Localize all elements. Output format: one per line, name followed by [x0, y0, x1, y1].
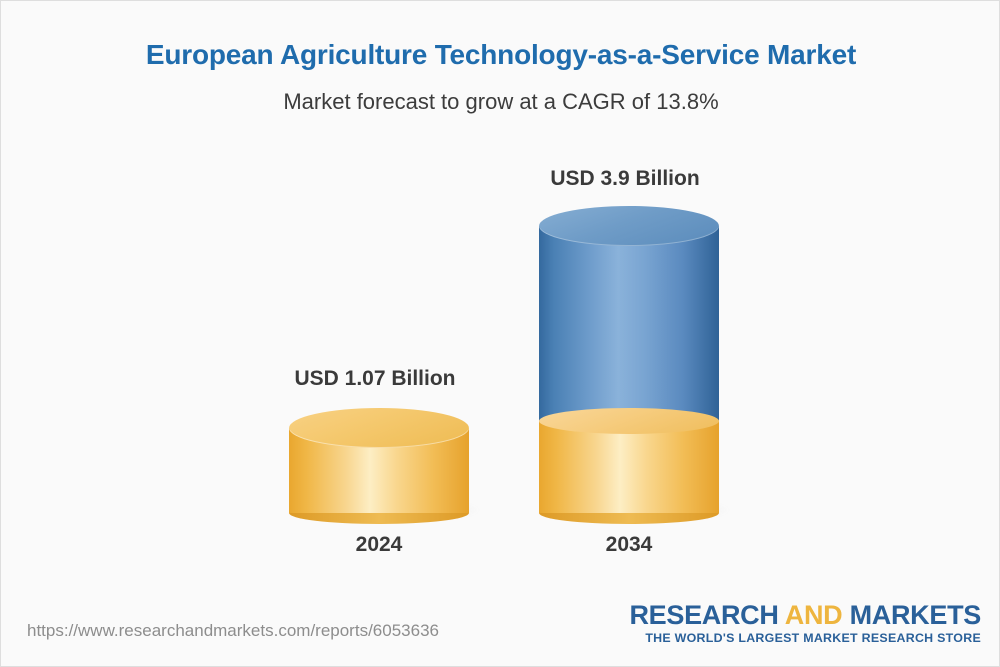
bar-2034: [539, 206, 719, 513]
logo-word-markets: MARKETS: [850, 600, 981, 630]
report-url[interactable]: https://www.researchandmarkets.com/repor…: [27, 621, 439, 641]
logo-wordmark: RESEARCH AND MARKETS: [629, 601, 981, 629]
logo-word-and: AND: [785, 600, 843, 630]
market-infographic: European Agriculture Technology-as-a-Ser…: [0, 0, 1000, 667]
value-label-2034: USD 3.9 Billion: [479, 167, 771, 191]
logo-word-research: RESEARCH: [629, 600, 778, 630]
bar-2034-growth-segment: [539, 226, 719, 421]
bar-2024: [289, 408, 469, 513]
category-label-2024: 2024: [233, 533, 525, 557]
value-label-2024: USD 1.07 Billion: [229, 367, 521, 391]
logo-tagline: THE WORLD'S LARGEST MARKET RESEARCH STOR…: [629, 631, 981, 645]
bar-2034-top-cap: [539, 206, 719, 246]
bar-2024-top-cap: [289, 408, 469, 448]
category-label-2034: 2034: [483, 533, 775, 557]
bar-chart: USD 1.07 Billion USD 3.9 Billion 2024 20…: [1, 1, 1000, 667]
research-and-markets-logo: RESEARCH AND MARKETS THE WORLD'S LARGEST…: [629, 601, 981, 645]
bar-2034-segment-divider: [539, 408, 719, 434]
